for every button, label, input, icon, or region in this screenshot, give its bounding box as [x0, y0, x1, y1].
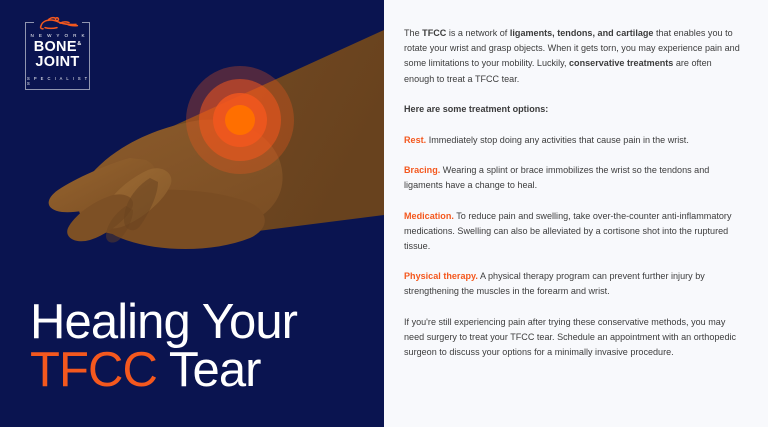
treatment-text-rest: Immediately stop doing any activities th… [426, 135, 689, 145]
brand-logo: N E W Y O R K BONE & JOINT S P E C I A L… [25, 22, 90, 90]
treatment-item-bracing: Bracing. Wearing a splint or brace immob… [404, 163, 742, 193]
page-title-line-2-rest: Tear [157, 343, 261, 397]
logo-word-joint: JOINT [35, 55, 79, 70]
treatment-label-rest: Rest. [404, 135, 426, 145]
treatment-text-bracing: Wearing a splint or brace immobilizes th… [404, 165, 709, 190]
page-title-line-2: TFCC Tear [30, 346, 297, 394]
treatment-label-bracing: Bracing. [404, 165, 440, 175]
page-title-line-1: Healing Your [30, 298, 297, 346]
intro-paragraph: The TFCC is a network of ligaments, tend… [404, 26, 742, 87]
treatment-item-medication: Medication. To reduce pain and swelling,… [404, 209, 742, 255]
logo-tagline: S P E C I A L I S T S [27, 76, 89, 86]
treatment-label-medication: Medication. [404, 211, 454, 221]
intro-part-2: is a network of [446, 28, 510, 38]
closing-paragraph: If you're still experiencing pain after … [404, 315, 742, 361]
infographic-root: N E W Y O R K BONE & JOINT S P E C I A L… [0, 0, 768, 427]
treatment-text-medication: To reduce pain and swelling, take over-t… [404, 211, 731, 251]
treatment-item-rest: Rest. Immediately stop doing any activit… [404, 133, 742, 148]
treatments-subheading: Here are some treatment options: [404, 102, 742, 117]
article-panel: The TFCC is a network of ligaments, tend… [384, 0, 768, 427]
logo-eyebrow: N E W Y O R K [31, 33, 87, 38]
intro-bold-conservative: conservative treatments [569, 58, 673, 68]
intro-part-1: The [404, 28, 422, 38]
intro-bold-tissues: ligaments, tendons, and cartilage [510, 28, 654, 38]
tfcc-pain-indicator [186, 66, 294, 174]
logo-ampersand: & [77, 41, 81, 47]
page-title: Healing Your TFCC Tear [30, 298, 297, 394]
logo-word-bone: BONE [34, 40, 77, 55]
page-title-highlight: TFCC [30, 343, 157, 397]
left-hero-panel: N E W Y O R K BONE & JOINT S P E C I A L… [0, 0, 384, 427]
intro-bold-tfcc: TFCC [422, 28, 446, 38]
treatment-item-physical-therapy: Physical therapy. A physical therapy pro… [404, 269, 742, 299]
treatment-label-physical-therapy: Physical therapy. [404, 271, 478, 281]
running-horse-jockey-icon [34, 14, 82, 33]
